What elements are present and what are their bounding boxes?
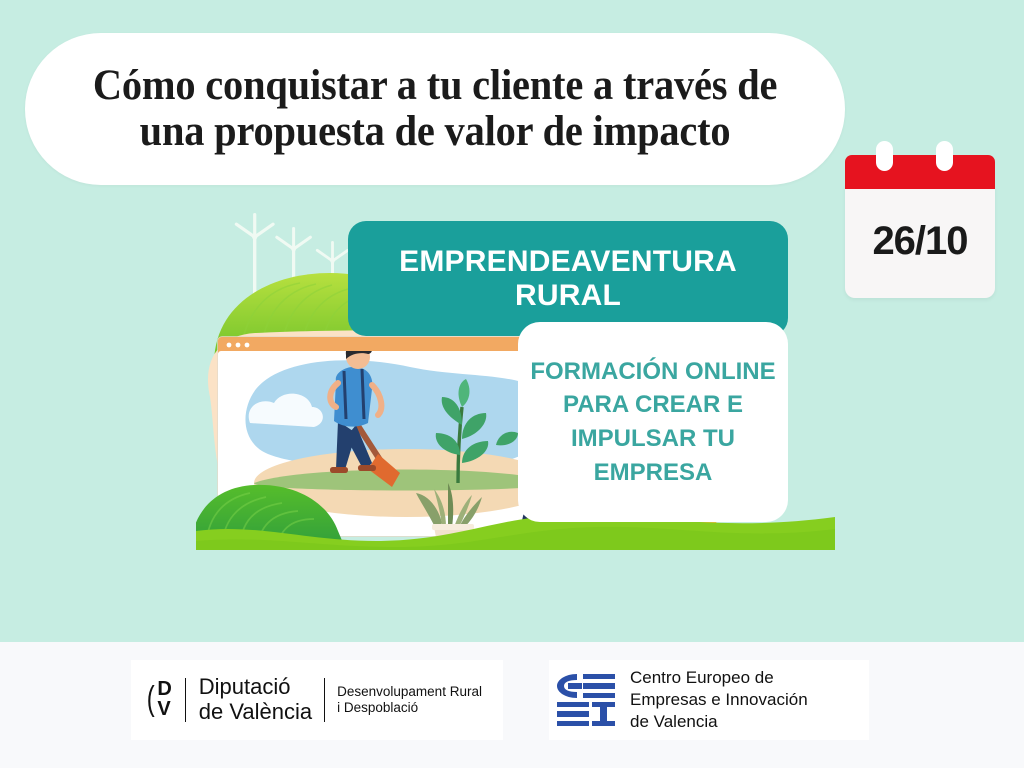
dv-name: Diputació de València: [199, 675, 312, 724]
poster-heading-panel: EMPRENDEAVENTURA RURAL: [348, 221, 788, 336]
ceei-name-line-3: de Valencia: [630, 711, 808, 733]
event-illustration: EMPRENDEAVENTURA RURAL FORMACIÓN ONLINE …: [196, 211, 835, 550]
ceei-name: Centro Europeo de Empresas e Innovación …: [630, 667, 808, 733]
dv-letter-v: V: [157, 700, 171, 720]
dv-name-line-2: de València: [199, 700, 312, 725]
dv-department-line-2: i Despoblació: [337, 700, 482, 716]
calendar-badge: 26/10: [845, 141, 995, 298]
event-date: 26/10: [872, 219, 967, 264]
poster-heading: EMPRENDEAVENTURA RURAL: [348, 245, 788, 312]
dv-department: Desenvolupament Rural i Despoblació: [337, 684, 482, 717]
page-title-line-2: una propuesta de valor de impacto: [93, 109, 777, 155]
divider: [324, 678, 325, 722]
calendar-header-band: [845, 155, 995, 189]
divider: [185, 678, 186, 722]
logo-diputacio-valencia: ( D V Diputació de València Desenvolupam…: [131, 660, 503, 740]
dv-paren-glyph: (: [147, 682, 155, 716]
title-card: Cómo conquistar a tu cliente a través de…: [25, 33, 845, 185]
ceei-name-line-1: Centro Europeo de: [630, 667, 808, 689]
calendar-ring-icon: [936, 141, 953, 171]
ceei-name-line-2: Empresas e Innovación: [630, 689, 808, 711]
page-title-line-1: Cómo conquistar a tu cliente a través de: [93, 63, 777, 109]
dv-name-line-1: Diputació: [199, 675, 312, 700]
calendar-body: 26/10: [845, 185, 995, 298]
ceei-mark-icon: [555, 672, 617, 728]
poster-subheading: FORMACIÓN ONLINE PARA CREAR E IMPULSAR T…: [518, 355, 788, 489]
logo-ceei: Centro Europeo de Empresas e Innovación …: [549, 660, 869, 740]
dv-letters: D V: [157, 680, 171, 719]
calendar-ring-icon: [876, 141, 893, 171]
poster-subheading-panel: FORMACIÓN ONLINE PARA CREAR E IMPULSAR T…: [518, 322, 788, 522]
dv-department-line-1: Desenvolupament Rural: [337, 684, 482, 700]
poster-canvas: Cómo conquistar a tu cliente a través de…: [0, 0, 1024, 768]
dv-monogram-icon: ( D V: [145, 680, 172, 719]
page-title: Cómo conquistar a tu cliente a través de…: [68, 63, 801, 156]
